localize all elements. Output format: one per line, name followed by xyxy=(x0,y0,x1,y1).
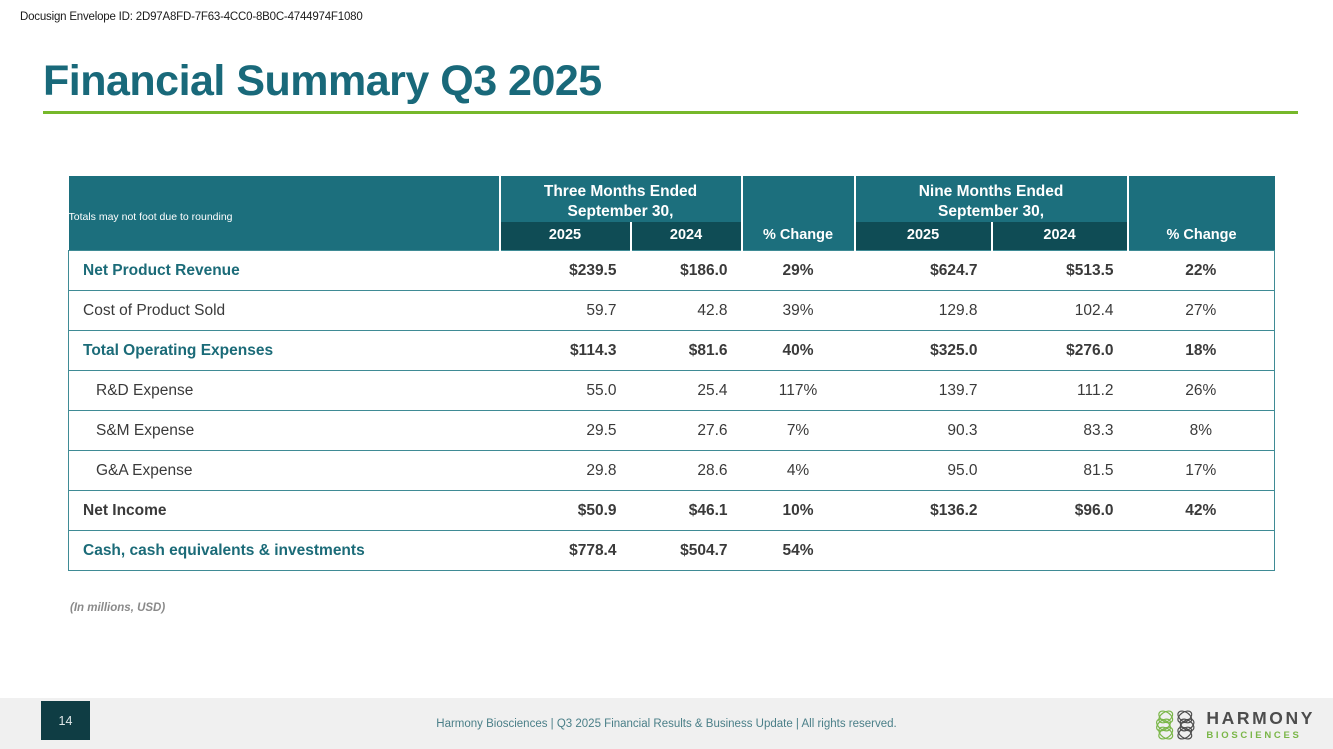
table-row: Cash, cash equivalents & investments $77… xyxy=(69,531,1275,571)
column-header-ytd-2024: 2024 xyxy=(992,222,1128,251)
cell-q3-2024: 28.6 xyxy=(631,451,742,491)
row-label: Net Product Revenue xyxy=(69,251,500,291)
cell-ytd-change: 8% xyxy=(1128,411,1275,451)
table-header-group-row: Totals may not foot due to rounding Thre… xyxy=(69,176,1275,222)
group-header-three-months: Three Months Ended September 30, xyxy=(500,176,742,222)
group-header-nine-months: Nine Months Ended September 30, xyxy=(855,176,1128,222)
cell-ytd-2024: 111.2 xyxy=(992,371,1128,411)
table-header: Totals may not foot due to rounding Thre… xyxy=(69,176,1275,251)
row-label: R&D Expense xyxy=(69,371,500,411)
cell-q3-change: 54% xyxy=(742,531,855,571)
harmony-knot-icon xyxy=(1154,708,1198,742)
cell-ytd-2025: 95.0 xyxy=(855,451,992,491)
cell-ytd-change: 42% xyxy=(1128,491,1275,531)
cell-q3-2024: $81.6 xyxy=(631,331,742,371)
cell-q3-2024: $46.1 xyxy=(631,491,742,531)
cell-ytd-2025 xyxy=(855,531,992,571)
cell-q3-2025: 55.0 xyxy=(500,371,631,411)
harmony-logo-subtitle: BIOSCIENCES xyxy=(1206,731,1315,741)
financial-summary-table-wrapper: Totals may not foot due to rounding Thre… xyxy=(68,176,1274,571)
cell-q3-change: 4% xyxy=(742,451,855,491)
financial-summary-table: Totals may not foot due to rounding Thre… xyxy=(68,176,1275,571)
column-header-q3-change: % Change xyxy=(742,222,855,251)
cell-q3-2024: $504.7 xyxy=(631,531,742,571)
cell-ytd-change: 22% xyxy=(1128,251,1275,291)
docusign-envelope-id: Docusign Envelope ID: 2D97A8FD-7F63-4CC0… xyxy=(20,11,363,23)
cell-q3-2024: 42.8 xyxy=(631,291,742,331)
cell-ytd-2024 xyxy=(992,531,1128,571)
column-header-q3-2025: 2025 xyxy=(500,222,631,251)
cell-q3-change: 29% xyxy=(742,251,855,291)
cell-q3-2024: 25.4 xyxy=(631,371,742,411)
group-header-nine-months-line1: Nine Months Ended xyxy=(856,182,1127,202)
cell-ytd-2025: $325.0 xyxy=(855,331,992,371)
cell-ytd-2024: $276.0 xyxy=(992,331,1128,371)
cell-ytd-change: 26% xyxy=(1128,371,1275,411)
cell-ytd-change xyxy=(1128,531,1275,571)
row-label: Cost of Product Sold xyxy=(69,291,500,331)
harmony-logo: HARMONY BIOSCIENCES xyxy=(1154,708,1315,742)
title-block: Financial Summary Q3 2025 xyxy=(43,57,1298,114)
group-header-spacer-1 xyxy=(742,176,855,222)
cell-q3-2025: 29.5 xyxy=(500,411,631,451)
group-header-nine-months-line2: September 30, xyxy=(856,202,1127,222)
group-header-three-months-line2: September 30, xyxy=(501,202,741,222)
column-header-ytd-2025: 2025 xyxy=(855,222,992,251)
cell-ytd-2025: 90.3 xyxy=(855,411,992,451)
footer-copyright-text: Harmony Biosciences | Q3 2025 Financial … xyxy=(0,718,1333,730)
page-title: Financial Summary Q3 2025 xyxy=(43,57,1298,111)
cell-q3-2025: $239.5 xyxy=(500,251,631,291)
footer-bar: 14 Harmony Biosciences | Q3 2025 Financi… xyxy=(0,698,1333,749)
group-header-three-months-line1: Three Months Ended xyxy=(501,182,741,202)
table-row: S&M Expense 29.5 27.6 7% 90.3 83.3 8% xyxy=(69,411,1275,451)
rounding-note: Totals may not foot due to rounding xyxy=(69,176,500,222)
cell-ytd-change: 18% xyxy=(1128,331,1275,371)
cell-ytd-change: 27% xyxy=(1128,291,1275,331)
cell-q3-change: 39% xyxy=(742,291,855,331)
cell-q3-change: 117% xyxy=(742,371,855,411)
cell-q3-2025: 29.8 xyxy=(500,451,631,491)
cell-q3-2024: 27.6 xyxy=(631,411,742,451)
cell-ytd-2025: $624.7 xyxy=(855,251,992,291)
cell-ytd-2024: 81.5 xyxy=(992,451,1128,491)
table-row: R&D Expense 55.0 25.4 117% 139.7 111.2 2… xyxy=(69,371,1275,411)
cell-ytd-2025: 139.7 xyxy=(855,371,992,411)
row-label: Cash, cash equivalents & investments xyxy=(69,531,500,571)
table-header-column-row: 2025 2024 % Change 2025 2024 % Change xyxy=(69,222,1275,251)
table-row: Net Income $50.9 $46.1 10% $136.2 $96.0 … xyxy=(69,491,1275,531)
cell-q3-2025: $778.4 xyxy=(500,531,631,571)
cell-q3-change: 7% xyxy=(742,411,855,451)
cell-q3-2025: $114.3 xyxy=(500,331,631,371)
table-body: Net Product Revenue $239.5 $186.0 29% $6… xyxy=(69,251,1275,571)
cell-q3-2025: $50.9 xyxy=(500,491,631,531)
harmony-logo-name: HARMONY xyxy=(1206,710,1315,728)
cell-ytd-2024: 102.4 xyxy=(992,291,1128,331)
cell-q3-change: 40% xyxy=(742,331,855,371)
table-row: Total Operating Expenses $114.3 $81.6 40… xyxy=(69,331,1275,371)
table-row: Net Product Revenue $239.5 $186.0 29% $6… xyxy=(69,251,1275,291)
cell-q3-2024: $186.0 xyxy=(631,251,742,291)
column-header-label xyxy=(69,222,500,251)
table-row: Cost of Product Sold 59.7 42.8 39% 129.8… xyxy=(69,291,1275,331)
title-underline xyxy=(43,111,1298,114)
cell-ytd-2025: 129.8 xyxy=(855,291,992,331)
cell-q3-change: 10% xyxy=(742,491,855,531)
cell-ytd-2025: $136.2 xyxy=(855,491,992,531)
row-label: G&A Expense xyxy=(69,451,500,491)
column-header-q3-2024: 2024 xyxy=(631,222,742,251)
cell-ytd-2024: $513.5 xyxy=(992,251,1128,291)
cell-ytd-2024: 83.3 xyxy=(992,411,1128,451)
harmony-logo-text: HARMONY BIOSCIENCES xyxy=(1206,710,1315,740)
cell-ytd-change: 17% xyxy=(1128,451,1275,491)
table-row: G&A Expense 29.8 28.6 4% 95.0 81.5 17% xyxy=(69,451,1275,491)
column-header-ytd-change: % Change xyxy=(1128,222,1275,251)
row-label: S&M Expense xyxy=(69,411,500,451)
row-label: Total Operating Expenses xyxy=(69,331,500,371)
group-header-spacer-2 xyxy=(1128,176,1275,222)
cell-ytd-2024: $96.0 xyxy=(992,491,1128,531)
row-label: Net Income xyxy=(69,491,500,531)
units-note: (In millions, USD) xyxy=(70,602,165,614)
cell-q3-2025: 59.7 xyxy=(500,291,631,331)
